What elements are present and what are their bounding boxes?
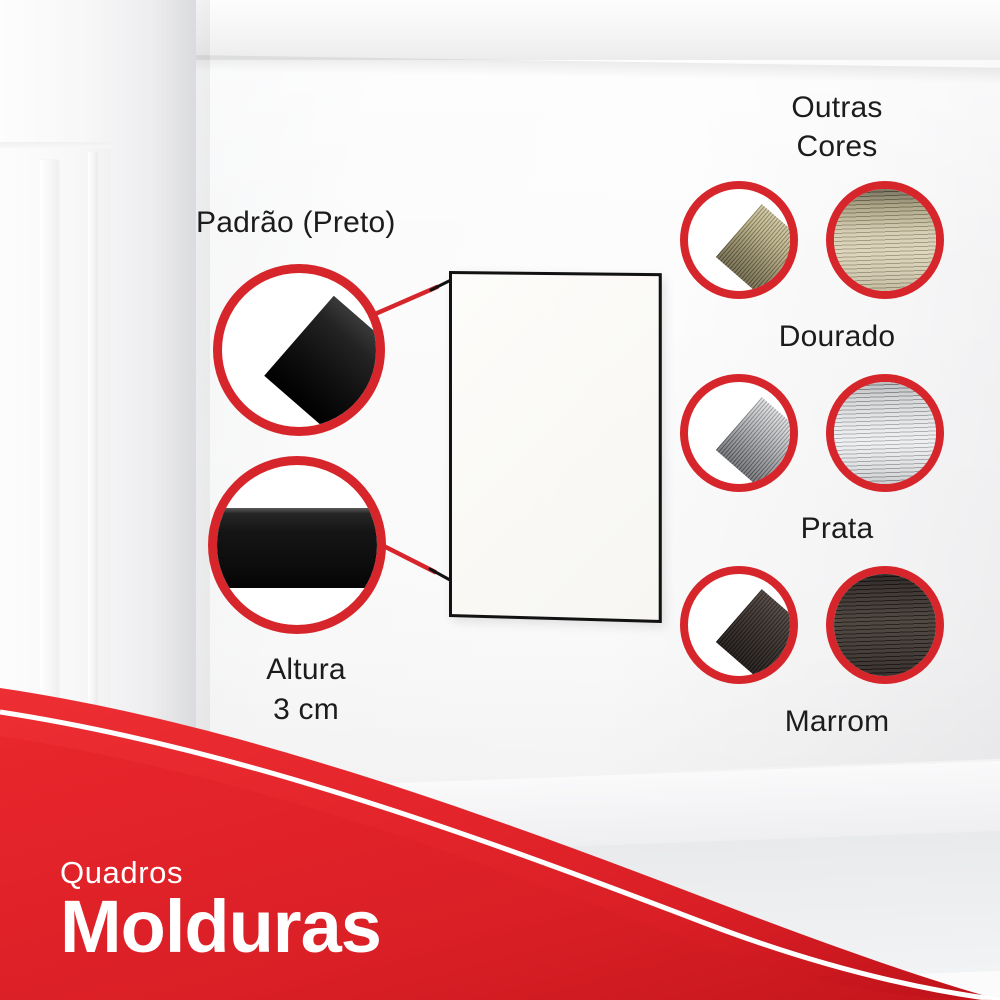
label-prata: Prata	[742, 512, 932, 546]
picture-frame-canvas	[452, 274, 659, 620]
frame-height-band-icon	[208, 508, 386, 588]
label-padrao-preto: Padrão (Preto)	[196, 206, 396, 240]
gold-corner-swatch[interactable]	[680, 181, 798, 299]
label-dourado: Dourado	[742, 320, 932, 354]
chevron-corner-icon	[213, 264, 385, 436]
black-frame-corner-swatch[interactable]	[213, 264, 385, 436]
brand-title: Molduras	[60, 890, 381, 964]
brand-lockup: Quadros Molduras	[60, 857, 381, 964]
heading-outras-cores: Outras Cores	[742, 88, 932, 166]
infographic-canvas: Padrão (Preto) Altura 3 cm Outras Cores …	[0, 0, 1000, 1000]
brand-subtitle: Quadros	[60, 857, 381, 888]
picture-frame-preview	[449, 271, 662, 623]
brand-banner: Quadros Molduras	[0, 660, 1000, 1000]
heading-outras-cores-line1: Outras	[742, 88, 932, 127]
silver-texture-swatch[interactable]	[826, 374, 944, 492]
silver-corner-swatch[interactable]	[680, 374, 798, 492]
heading-outras-cores-line2: Cores	[742, 127, 932, 166]
chevron-corner-icon	[680, 181, 798, 299]
wood-grain-texture-icon	[834, 382, 936, 484]
black-frame-height-swatch[interactable]	[208, 456, 386, 634]
wood-grain-texture-icon	[834, 189, 936, 291]
chevron-corner-icon	[680, 374, 798, 492]
gold-texture-swatch[interactable]	[826, 181, 944, 299]
